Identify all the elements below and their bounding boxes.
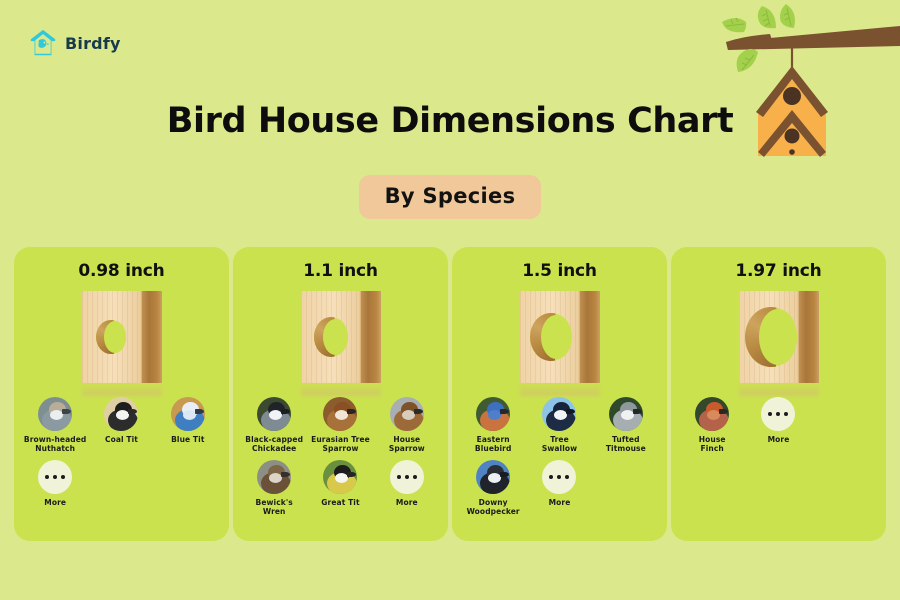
blue-tit-thumb[interactable] [171,397,205,431]
species-row: Eastern BluebirdTree SwallowTufted Titmo… [460,391,659,454]
bird-species-label: Black-capped Chickadee [245,435,303,454]
more-species-button[interactable]: More [374,454,440,517]
entrance-hole [530,313,572,362]
dimension-card[interactable]: 1.1 inchBlack-capped ChickadeeEurasian T… [233,247,448,541]
hole-size-label: 0.98 inch [14,261,229,281]
species-row: Brown-headed NuthatchCoal TitBlue Tit [22,391,221,454]
bird-species-label: Downy Woodpecker [467,498,520,517]
bird-species-label: Tree Swallow [542,435,577,454]
bird-species-item[interactable]: House Sparrow [374,391,440,454]
wooden-block-with-hole [82,291,162,396]
bird-species-item[interactable]: Coal Tit [88,391,154,454]
species-row: House FinchMore [679,391,878,454]
species-row: Downy WoodpeckerMore [460,454,659,517]
dimension-card[interactable]: 1.5 inchEastern BluebirdTree SwallowTuft… [452,247,667,541]
dimension-card[interactable]: 1.97 inchHouse FinchMore [671,247,886,541]
bird-species-label: Bewick's Wren [256,498,293,517]
wooden-block-with-hole [301,291,381,396]
bird-species-item[interactable]: Tree Swallow [526,391,592,454]
bird-species-label: House Finch [699,435,726,454]
subtitle-badge: By Species [359,175,542,219]
wooden-block-with-hole [739,291,819,396]
brand-logo[interactable]: Birdfy [28,28,121,58]
more-label: More [396,498,418,507]
hole-size-label: 1.97 inch [671,261,886,281]
wood-face [82,291,162,383]
brown-headed-nuthatch-thumb[interactable] [38,397,72,431]
entrance-hole [96,320,126,355]
more-label: More [768,435,790,444]
wood-face [301,291,381,383]
great-tit-thumb[interactable] [323,460,357,494]
bird-species-label: Coal Tit [105,435,138,444]
wooden-block-with-hole [520,291,600,396]
bird-species-item[interactable]: Black-capped Chickadee [241,391,307,454]
more-species-button[interactable]: More [745,391,811,454]
bird-species-label: Eurasian Tree Sparrow [311,435,370,454]
species-list: Black-capped ChickadeeEurasian Tree Spar… [233,391,448,517]
hole-size-label: 1.5 inch [452,261,667,281]
bird-species-label: Eastern Bluebird [475,435,512,454]
birdhouse-bird-icon [28,28,58,58]
hole-size-label: 1.1 inch [233,261,448,281]
coal-tit-thumb[interactable] [104,397,138,431]
bird-species-item[interactable]: Blue Tit [155,391,221,454]
three-dots-icon[interactable] [390,460,424,494]
bewicks-wren-thumb[interactable] [257,460,291,494]
dimension-card[interactable]: 0.98 inchBrown-headed NuthatchCoal TitBl… [14,247,229,541]
bird-species-item[interactable]: Eurasian Tree Sparrow [307,391,373,454]
species-row: Bewick's WrenGreat TitMore [241,454,440,517]
three-dots-icon[interactable] [761,397,795,431]
bird-species-item[interactable]: Tufted Titmouse [593,391,659,454]
decorative-branch-and-birdhouse [700,0,900,182]
more-label: More [549,498,571,507]
bird-species-item[interactable]: House Finch [679,391,745,454]
bird-species-label: House Sparrow [389,435,425,454]
species-row: Black-capped ChickadeeEurasian Tree Spar… [241,391,440,454]
bird-species-item[interactable]: Bewick's Wren [241,454,307,517]
tufted-titmouse-thumb[interactable] [609,397,643,431]
downy-woodpecker-thumb[interactable] [476,460,510,494]
bird-species-label: Tufted Titmouse [606,435,646,454]
species-list: Eastern BluebirdTree SwallowTufted Titmo… [452,391,667,517]
bird-species-item[interactable]: Eastern Bluebird [460,391,526,454]
entrance-hole [314,317,348,356]
species-list: Brown-headed NuthatchCoal TitBlue TitMor… [14,391,229,507]
bird-species-item[interactable]: Great Tit [307,454,373,517]
house-sparrow-thumb[interactable] [390,397,424,431]
brand-name: Birdfy [65,34,121,53]
tree-branch-icon [722,4,900,72]
three-dots-icon[interactable] [38,460,72,494]
dimension-cards: 0.98 inchBrown-headed NuthatchCoal TitBl… [14,247,886,541]
entrance-hole [745,307,797,367]
tree-swallow-thumb[interactable] [542,397,576,431]
species-list: House FinchMore [671,391,886,454]
more-species-button[interactable]: More [22,454,88,507]
bird-species-label: Brown-headed Nuthatch [24,435,86,454]
more-species-button[interactable]: More [526,454,592,517]
species-row: More [22,454,221,507]
bird-species-item[interactable]: Brown-headed Nuthatch [22,391,88,454]
more-label: More [44,498,66,507]
three-dots-icon[interactable] [542,460,576,494]
subtitle-container: By Species [0,175,900,219]
page-title: Bird House Dimensions Chart [0,101,900,141]
wood-face [739,291,819,383]
black-capped-chickadee-thumb[interactable] [257,397,291,431]
wood-face [520,291,600,383]
bird-species-label: Blue Tit [171,435,204,444]
house-finch-thumb[interactable] [695,397,729,431]
bird-species-item[interactable]: Downy Woodpecker [460,454,526,517]
eurasian-tree-sparrow-thumb[interactable] [323,397,357,431]
eastern-bluebird-thumb[interactable] [476,397,510,431]
bird-species-label: Great Tit [321,498,359,507]
